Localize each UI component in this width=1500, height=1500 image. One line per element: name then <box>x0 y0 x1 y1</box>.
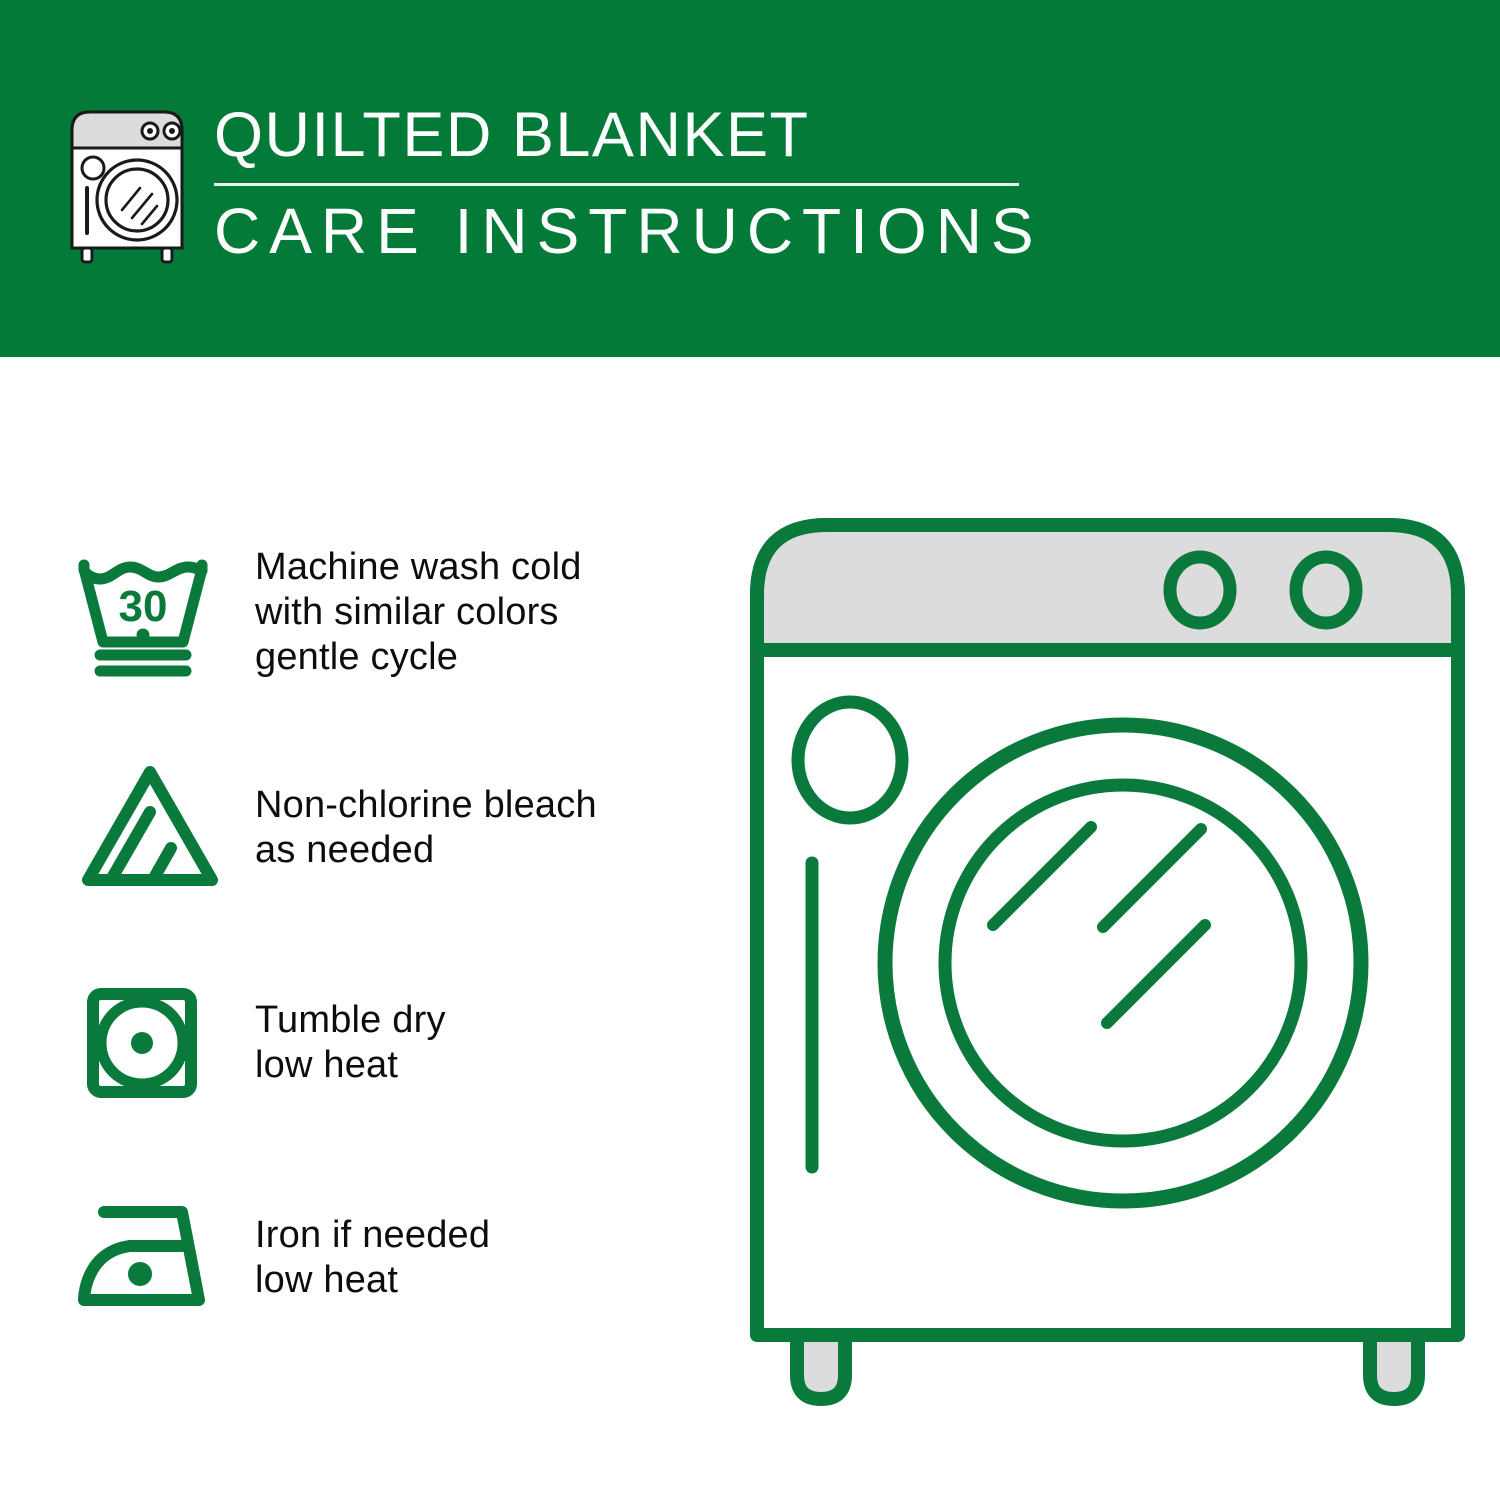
care-row-machine-wash: 30 Machine wash cold with similar colors… <box>70 505 720 720</box>
header-banner: QUILTED BLANKET CARE INSTRUCTIONS <box>0 0 1500 357</box>
care-line: low heat <box>255 1258 490 1303</box>
header-content: QUILTED BLANKET CARE INSTRUCTIONS <box>62 100 1043 265</box>
title-divider <box>214 183 1019 186</box>
care-line: Tumble dry <box>255 998 446 1043</box>
care-line: Iron if needed <box>255 1213 490 1258</box>
header-title-block: QUILTED BLANKET CARE INSTRUCTIONS <box>214 100 1043 263</box>
care-text-iron: Iron if needed low heat <box>255 1213 490 1303</box>
machine-leg-left <box>797 1335 845 1399</box>
page-subtitle: CARE INSTRUCTIONS <box>214 199 1043 263</box>
care-line: Non-chlorine bleach <box>255 783 597 828</box>
care-line: low heat <box>255 1043 446 1088</box>
tumble-dry-low-icon <box>70 973 255 1113</box>
care-text-machine-wash: Machine wash cold with similar colors ge… <box>255 545 582 679</box>
care-line: as needed <box>255 828 597 873</box>
machine-leg-right <box>1370 1335 1418 1399</box>
care-instruction-list: 30 Machine wash cold with similar colors… <box>70 505 720 1365</box>
care-instructions-infographic: QUILTED BLANKET CARE INSTRUCTIONS 30 <box>0 0 1500 1500</box>
care-line: with similar colors <box>255 590 582 635</box>
care-text-tumble-dry: Tumble dry low heat <box>255 998 446 1088</box>
page-title: QUILTED BLANKET <box>214 104 1043 167</box>
iron-low-heat-icon <box>70 1188 255 1328</box>
care-row-bleach: Non-chlorine bleach as needed <box>70 720 720 935</box>
washing-machine-icon <box>62 100 192 265</box>
care-line: Machine wash cold <box>255 545 582 590</box>
care-line: gentle cycle <box>255 635 582 680</box>
care-row-tumble-dry: Tumble dry low heat <box>70 935 720 1150</box>
care-row-iron: Iron if needed low heat <box>70 1150 720 1365</box>
wash-tub-30-gentle-icon: 30 <box>70 543 255 683</box>
washing-machine-illustration <box>735 495 1480 1430</box>
wash-temperature-label: 30 <box>119 582 168 631</box>
non-chlorine-bleach-triangle-icon <box>70 758 255 898</box>
care-text-bleach: Non-chlorine bleach as needed <box>255 783 597 873</box>
